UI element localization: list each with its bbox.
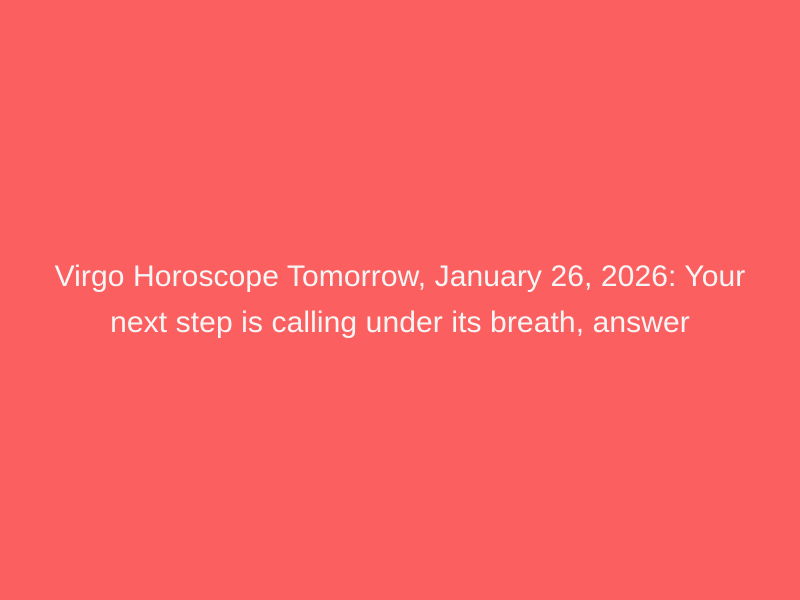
share-card: Virgo Horoscope Tomorrow, January 26, 20… [0,0,800,600]
page-title: Virgo Horoscope Tomorrow, January 26, 20… [50,254,750,347]
headline-block: Virgo Horoscope Tomorrow, January 26, 20… [50,254,750,347]
